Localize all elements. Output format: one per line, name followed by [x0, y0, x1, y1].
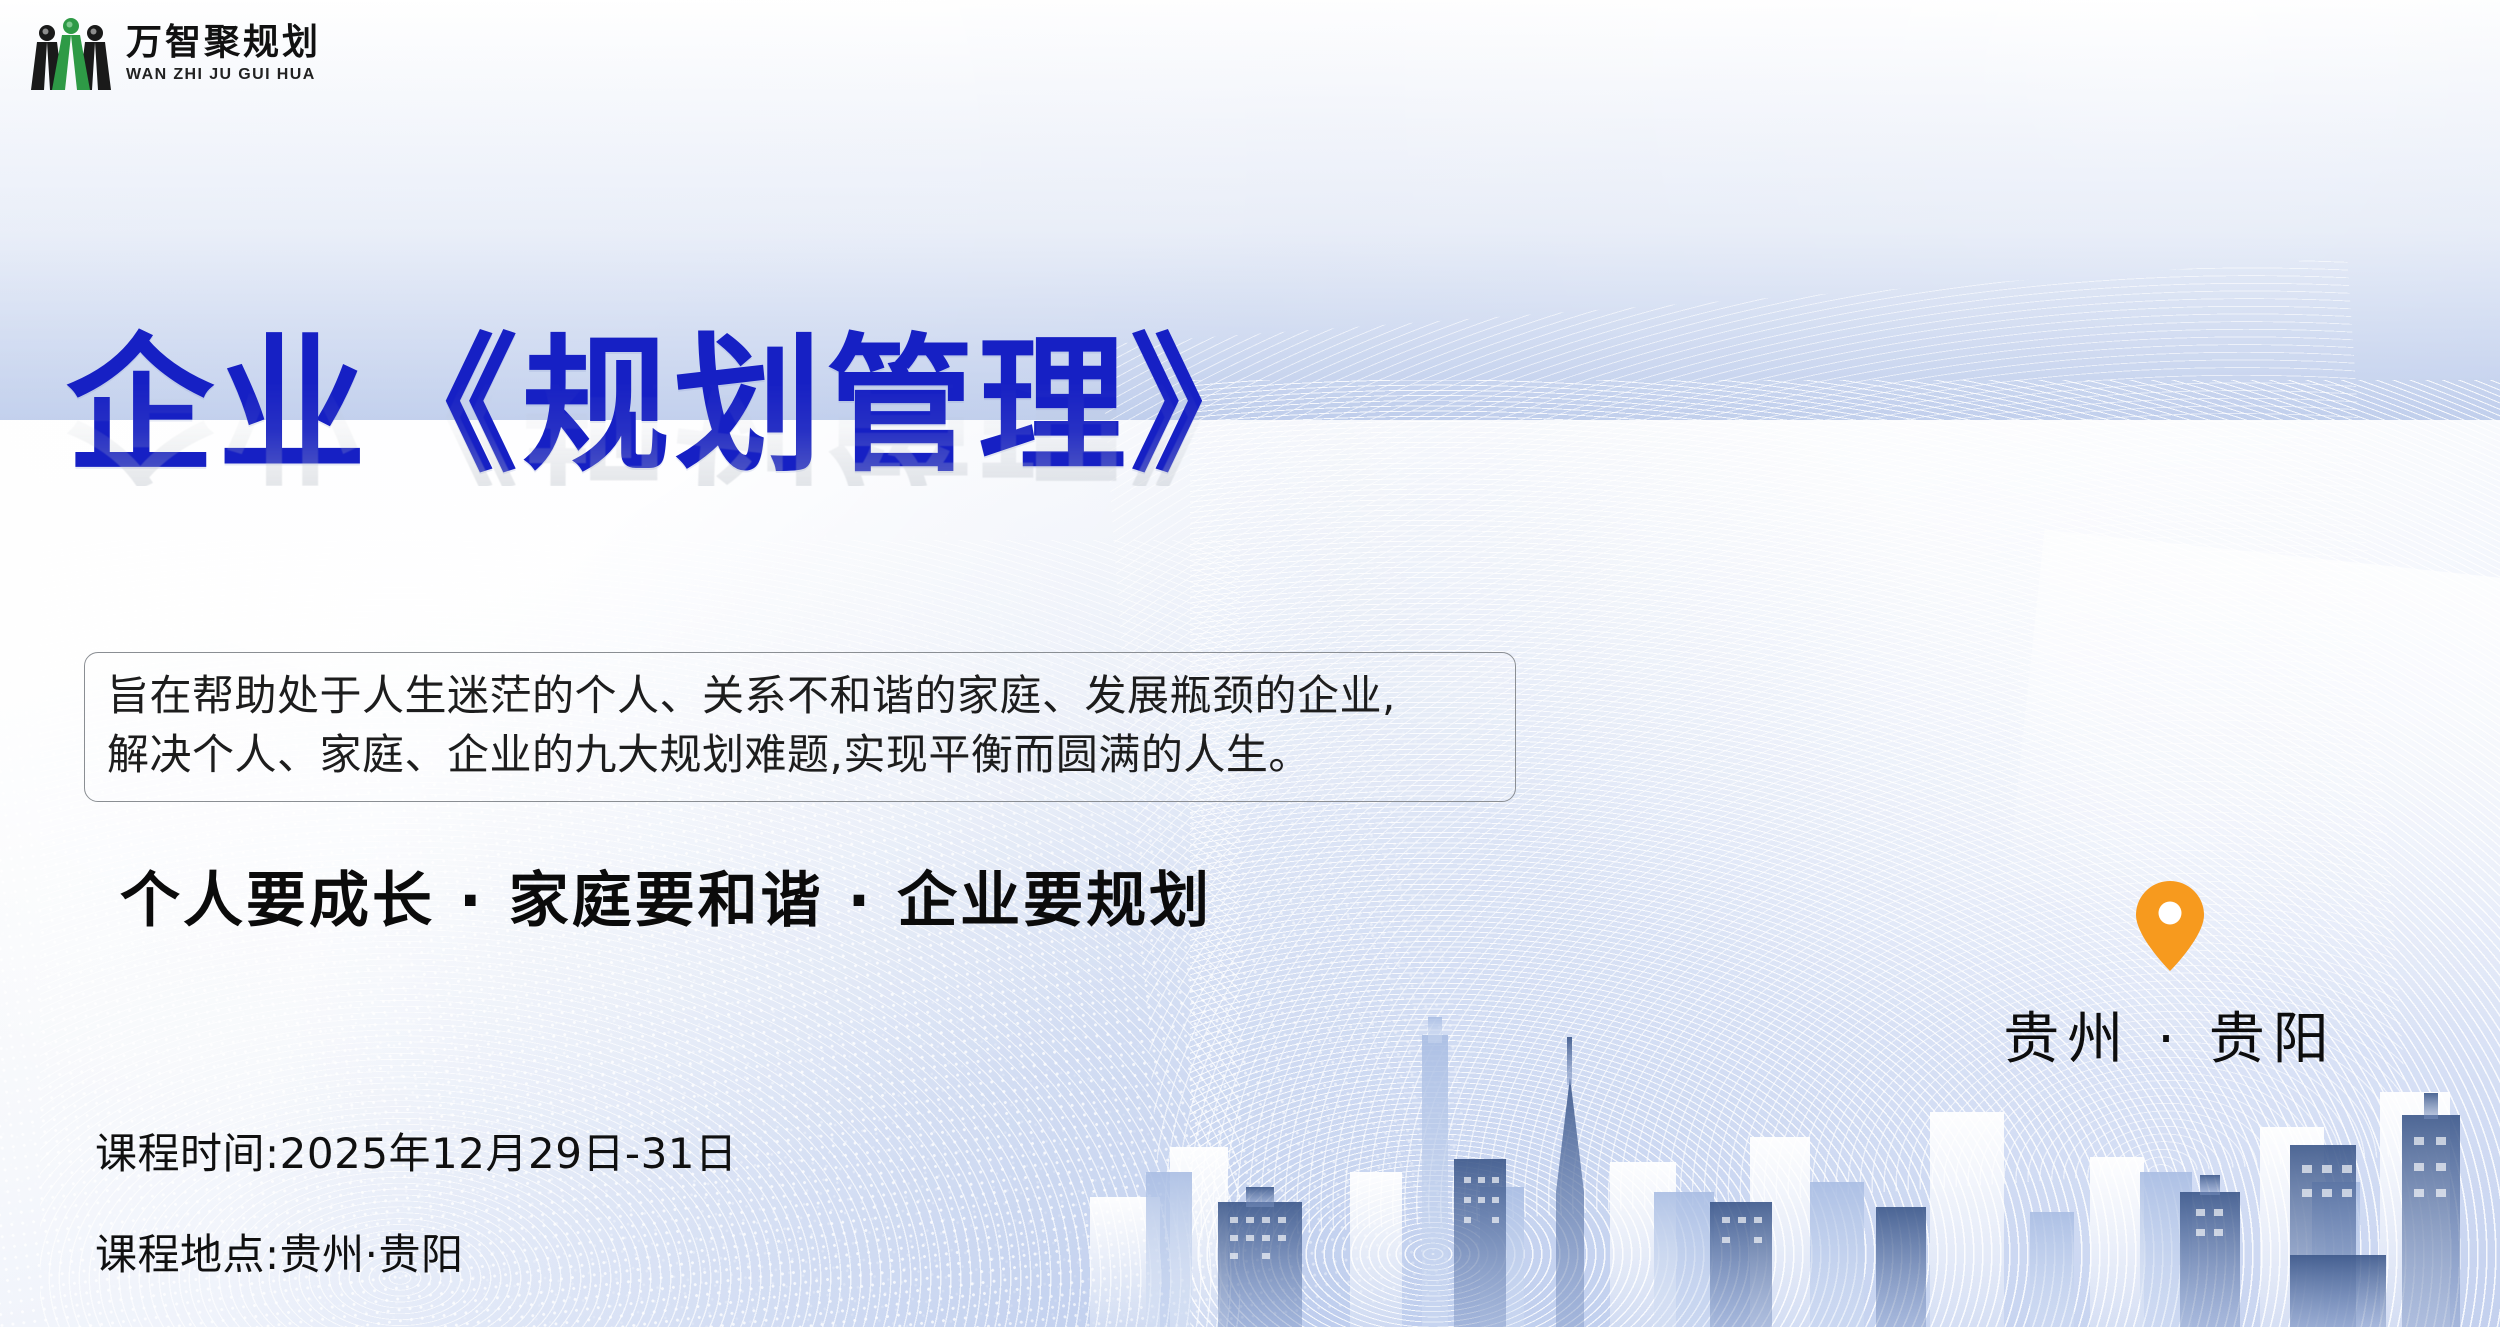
location-label: 贵州 · 贵阳: [1960, 994, 2380, 1075]
course-info: 课程时间:2025年12月29日-31日 课程地点:贵州·贵阳: [95, 1120, 738, 1282]
brand-name-cn: 万智聚规划: [126, 24, 321, 60]
tagline: 个人要成长 · 家庭要和谐 · 企业要规划: [120, 852, 1212, 939]
location-block: 贵州 · 贵阳: [1960, 880, 2380, 1075]
promo-poster: 万智聚规划 WAN ZHI JU GUI HUA 企业《规划管理》 企业《规划管…: [0, 0, 2500, 1327]
description-line-2: 解决个人、家庭、企业的九大规划难题,实现平衡而圆满的人生。: [107, 726, 1493, 785]
page-title-reflection: 企业《规划管理》: [66, 338, 1282, 486]
brand-logo: 万智聚规划 WAN ZHI JU GUI HUA: [30, 16, 321, 90]
brand-name-pinyin: WAN ZHI JU GUI HUA: [126, 67, 321, 83]
brand-logo-text: 万智聚规划 WAN ZHI JU GUI HUA: [126, 24, 321, 83]
hero-title-block: 企业《规划管理》 企业《规划管理》: [66, 332, 1282, 634]
course-place-row: 课程地点:贵州·贵阳: [95, 1221, 738, 1282]
course-time-row: 课程时间:2025年12月29日-31日: [95, 1120, 738, 1181]
map-pin-icon: [2135, 880, 2205, 972]
description-line-1: 旨在帮助处于人生迷茫的个人、关系不和谐的家庭、发展瓶颈的企业,: [107, 667, 1493, 726]
description-box: 旨在帮助处于人生迷茫的个人、关系不和谐的家庭、发展瓶颈的企业, 解决个人、家庭、…: [84, 652, 1516, 802]
three-people-logo-icon: [30, 16, 112, 90]
